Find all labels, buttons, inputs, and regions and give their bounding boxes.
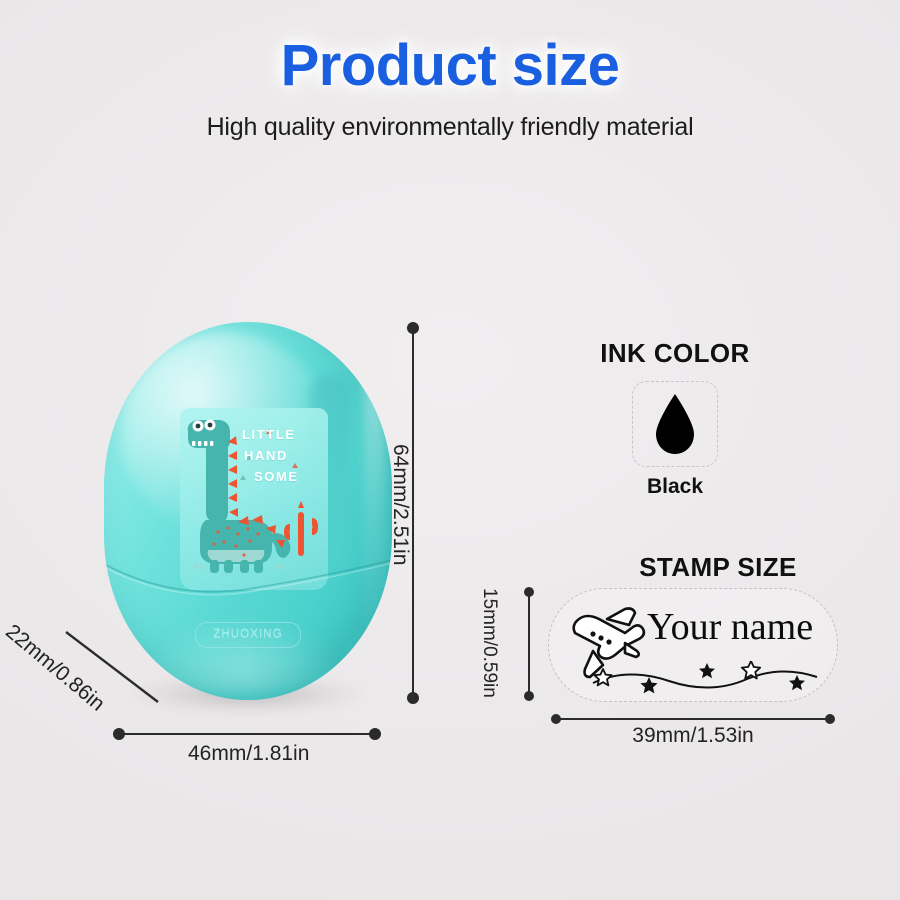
- dimension-line-width: [112, 726, 382, 742]
- dimension-label-stamp-height: 15mm/0.59in: [478, 588, 500, 698]
- case-slogan-line1: LITTLE: [242, 424, 299, 445]
- page-title: Product size: [0, 36, 900, 97]
- case-slogan: LITTLE HAND SOME: [242, 424, 299, 487]
- stamp-size-section: STAMP SIZE: [520, 552, 880, 583]
- stamp-preview-box[interactable]: Your name: [548, 588, 838, 702]
- ink-drop-icon: [650, 392, 700, 456]
- case-seam-line: [104, 554, 392, 610]
- case-slogan-line2: HAND: [242, 445, 299, 466]
- ink-color-section: INK COLOR Black: [560, 338, 790, 499]
- case-slogan-line3: SOME: [242, 466, 299, 487]
- product-size-infographic: Product size High quality environmentall…: [0, 0, 900, 900]
- ink-color-title: INK COLOR: [560, 338, 790, 369]
- dimension-label-height: 64mm/2.51in: [388, 444, 412, 565]
- ink-color-name: Black: [560, 475, 790, 499]
- page-subtitle: High quality environmentally friendly ma…: [0, 113, 900, 142]
- stamp-sample-text: Your name: [647, 605, 813, 649]
- header: Product size High quality environmentall…: [0, 0, 900, 142]
- dimension-line-stamp-height: [516, 586, 534, 702]
- stars-wave-decoration: [591, 661, 821, 695]
- brand-badge: ZHUOXING: [195, 622, 301, 648]
- ink-color-swatch[interactable]: [632, 381, 718, 467]
- dimension-label-stamp-width: 39mm/1.53in: [550, 724, 836, 748]
- stamp-size-title: STAMP SIZE: [520, 552, 880, 583]
